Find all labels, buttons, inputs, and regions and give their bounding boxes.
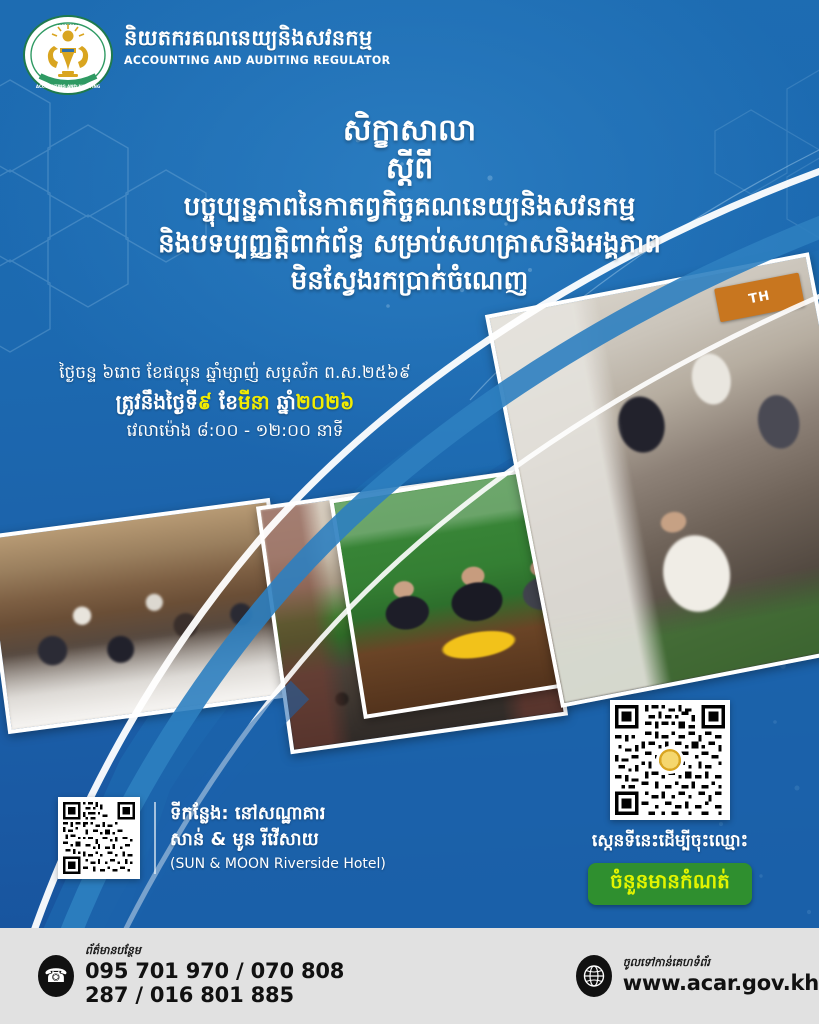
venue-line-1: ទីកន្លែង: នៅសណ្ឋាគារ	[170, 801, 386, 826]
footer-website-block: ចូលទៅកាន់គេហទំព័រ www.acar.gov.kh	[576, 955, 819, 997]
event-date-time: ថ្ងៃចន្ទ ៦រោច ខែផល្គុន ឆ្នាំម្សាញ់ សប្ដស…	[0, 360, 470, 445]
acar-emblem-icon: ············· ACCOUNTING AND AUDITING	[20, 14, 116, 96]
footer-website-label: ចូលទៅកាន់គេហទំព័រ	[623, 957, 819, 969]
footer-phone-value[interactable]: 095 701 970 / 070 808 287 / 016 801 885	[85, 959, 348, 1007]
gregorian-year-label: ឆ្នាំ	[270, 390, 296, 414]
globe-icon	[576, 955, 612, 997]
phone-icon: ☎	[38, 955, 74, 997]
gregorian-day: ៩	[198, 390, 212, 414]
event-time: វេលាម៉ោង ៨:០០ - ១២:០០ នាទី	[0, 418, 470, 445]
title-body-line-3: មិនស្វែងរកប្រាក់ចំណេញ	[0, 263, 819, 300]
gregorian-date: ត្រូវនឹងថ្ងៃទី៩ ខែមីនា ឆ្នាំ២០២៦	[0, 387, 470, 418]
gregorian-month: មីនា	[238, 390, 270, 414]
photo-audience-left	[0, 498, 296, 734]
title-body-line-2: និងបទប្បញ្ញត្តិពាក់ព័ន្ធ សម្រាប់សហគ្រាសន…	[0, 226, 819, 263]
gregorian-prefix: ត្រូវនឹងថ្ងៃទី	[116, 390, 198, 414]
venue-info: ទីកន្លែង: នៅសណ្ឋាគារ សាន់ & មូន រីវើសាយ …	[58, 797, 386, 879]
venue-line-2: សាន់ & មូន រីវើសាយ	[170, 827, 386, 852]
poster-header: ············· ACCOUNTING AND AUDITING និ…	[0, 0, 819, 100]
gregorian-year: ២០២៦	[296, 390, 355, 414]
svg-text:·············: ·············	[58, 22, 79, 27]
footer-phone-block: ☎ ព័ត៌មានបន្ថែម 095 701 970 / 070 808 28…	[38, 945, 348, 1007]
qr-center-emblem-icon	[659, 749, 681, 771]
registration-block: ស្កេនទីនេះដើម្បីចុះឈ្មោះ ចំនួនមានកំណត់	[545, 700, 795, 905]
org-name-english: ACCOUNTING AND AUDITING REGULATOR	[124, 53, 390, 67]
gregorian-month-label: ខែ	[212, 390, 238, 414]
venue-divider	[154, 802, 156, 874]
footer-phone-label: ព័ត៌មានបន្ថែម	[85, 945, 348, 957]
poster-canvas: TH	[0, 0, 819, 1024]
registration-qr-code-icon[interactable]	[610, 700, 730, 820]
qr-code-icon	[63, 802, 135, 874]
title-line-2: ស្ដីពី	[0, 150, 819, 188]
footer-website-value[interactable]: www.acar.gov.kh	[623, 971, 819, 995]
svg-text:ACCOUNTING AND AUDITING: ACCOUNTING AND AUDITING	[36, 84, 100, 89]
title-line-1: សិក្ខាសាលា	[0, 112, 819, 150]
lunar-date: ថ្ងៃចន្ទ ៦រោច ខែផល្គុន ឆ្នាំម្សាញ់ សប្ដស…	[0, 360, 470, 387]
venue-qr-code-icon[interactable]	[58, 797, 140, 879]
poster-footer: ☎ ព័ត៌មានបន្ថែម 095 701 970 / 070 808 28…	[0, 928, 819, 1024]
venue-line-english: (SUN & MOON Riverside Hotel)	[170, 854, 386, 875]
org-name-khmer: និយតករគណនេយ្យនិងសវនកម្ម	[124, 26, 402, 50]
venue-text: ទីកន្លែង: នៅសណ្ឋាគារ សាន់ & មូន រីវើសាយ …	[170, 801, 386, 874]
poster-title: សិក្ខាសាលា ស្ដីពី បច្ចុប្បន្នភាពនៃកាតព្វ…	[0, 112, 819, 300]
globe-glyph-icon	[583, 965, 605, 987]
registration-caption: ស្កេនទីនេះដើម្បីចុះឈ្មោះ	[545, 830, 795, 855]
organization-names: និយតករគណនេយ្យនិងសវនកម្ម ACCOUNTING AND A…	[124, 26, 402, 67]
limited-seats-button[interactable]: ចំនួនមានកំណត់	[588, 863, 752, 905]
title-body-line-1: បច្ចុប្បន្នភាពនៃកាតព្វកិច្ចគណនេយ្យនិងសវន…	[0, 189, 819, 226]
